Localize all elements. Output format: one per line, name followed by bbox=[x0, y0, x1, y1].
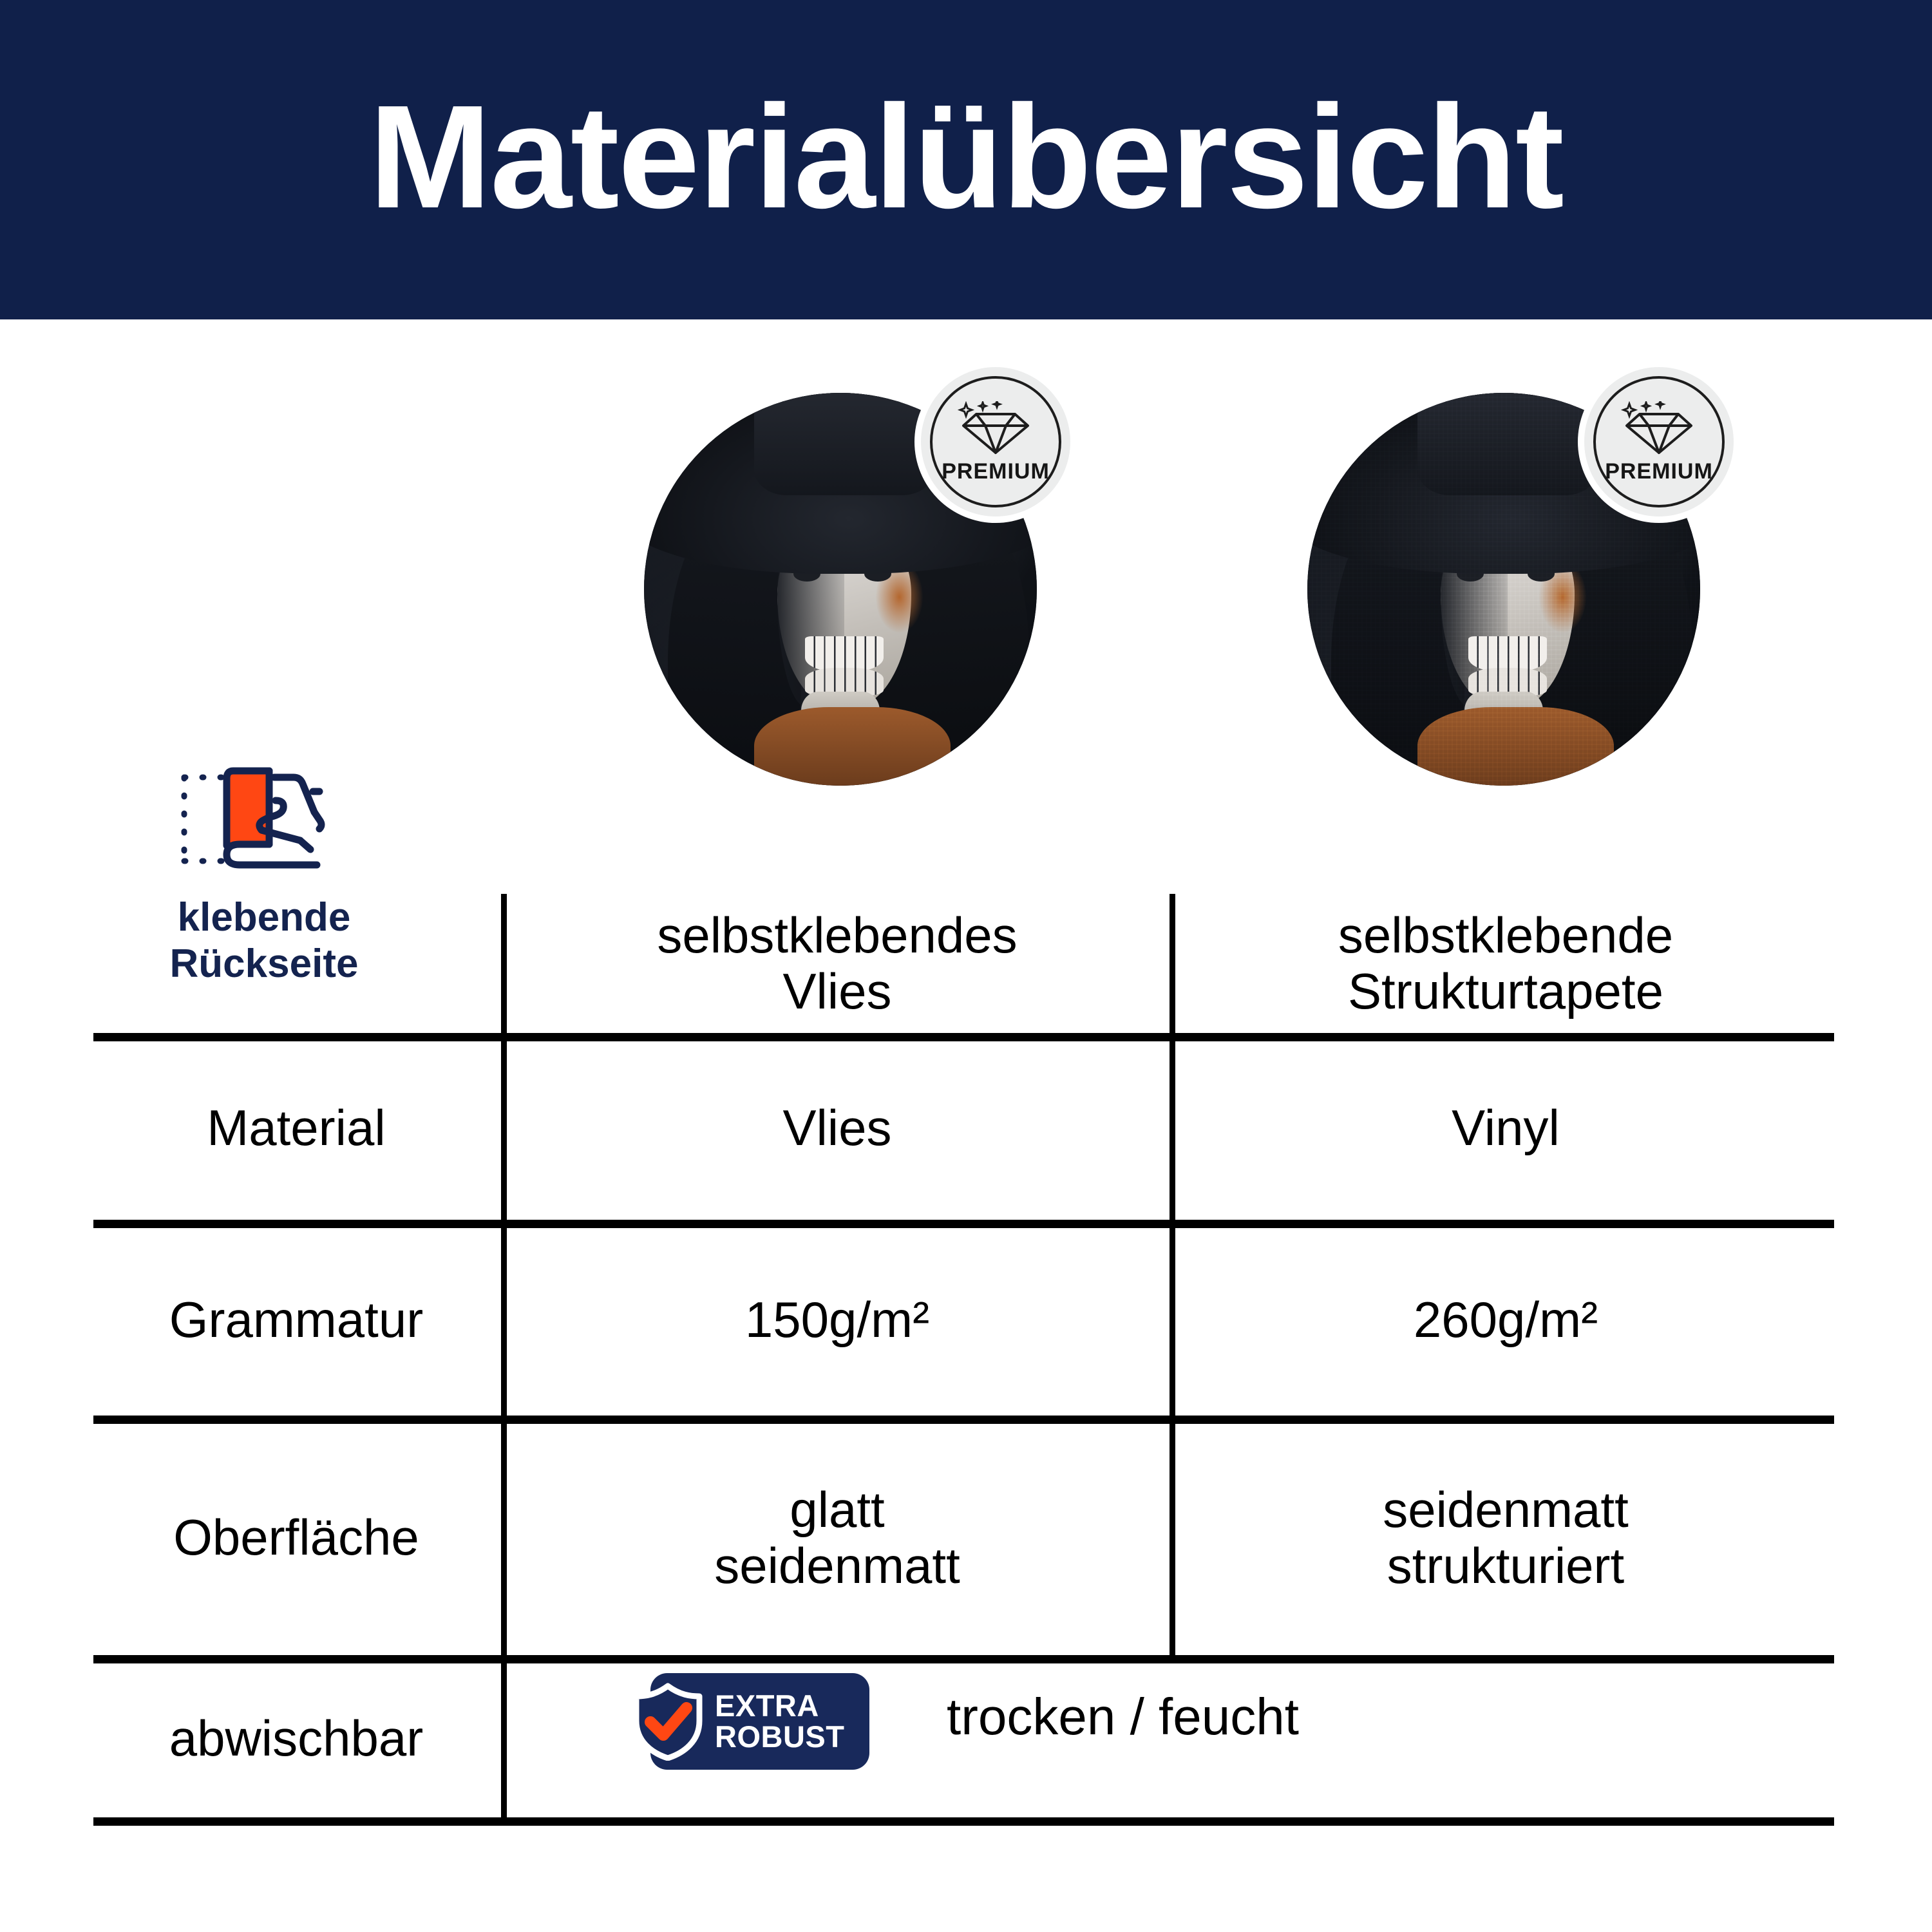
product-sample-strukturtapete[interactable]: PREMIUM bbox=[1307, 393, 1700, 786]
adhesive-backing-caption: klebende Rückseite bbox=[170, 895, 359, 987]
diamond-icon bbox=[1620, 401, 1698, 455]
diamond-icon bbox=[957, 401, 1034, 455]
table-cell-abwischbar-value: trocken / feucht bbox=[947, 1687, 1299, 1747]
table-cell-grammatur-strukturtapete: 260g/m² bbox=[1177, 1226, 1834, 1414]
table-header-col2: selbstklebende Strukturtapete bbox=[1177, 895, 1834, 1032]
table-row-label-oberflaeche: Oberfläche bbox=[93, 1422, 499, 1654]
oberflaeche-vlies-line1: glatt bbox=[714, 1482, 960, 1538]
table-rule-5 bbox=[93, 1817, 1834, 1826]
table-header-col2-line2: Strukturtapete bbox=[1338, 963, 1673, 1019]
table-header-col2-line1: selbstklebende bbox=[1338, 907, 1673, 963]
adhesive-backing-cell: klebende Rückseite bbox=[77, 763, 451, 1021]
table-header-col1-line2: Vlies bbox=[657, 963, 1017, 1019]
page-header: Materialübersicht bbox=[0, 0, 1932, 319]
adhesive-caption-line1: klebende bbox=[170, 895, 359, 941]
premium-badge-label: PREMIUM bbox=[1605, 460, 1713, 482]
oberflaeche-struktur-line1: seidenmatt bbox=[1383, 1482, 1629, 1538]
oberflaeche-struktur-line2: strukturiert bbox=[1383, 1538, 1629, 1594]
table-header-col1-line1: selbstklebendes bbox=[657, 907, 1017, 963]
premium-badge-label: PREMIUM bbox=[942, 460, 1050, 482]
shield-check-icon bbox=[629, 1682, 707, 1761]
table-row-label-material: Material bbox=[93, 1038, 499, 1218]
table-row-label-grammatur: Grammatur bbox=[93, 1226, 499, 1414]
extra-robust-line2: ROBUST bbox=[715, 1721, 844, 1752]
page-title: Materialübersicht bbox=[369, 84, 1563, 231]
table-divider-col2 bbox=[1170, 894, 1175, 1660]
table-cell-material-strukturtapete: Vinyl bbox=[1177, 1038, 1834, 1218]
table-header-col1: selbstklebendes Vlies bbox=[509, 895, 1166, 1032]
table-cell-oberflaeche-strukturtapete: seidenmatt strukturiert bbox=[1177, 1422, 1834, 1654]
table-cell-oberflaeche-vlies: glatt seidenmatt bbox=[509, 1422, 1166, 1654]
product-image-row: PREMIUM bbox=[0, 319, 1932, 764]
table-divider-col1 bbox=[501, 894, 507, 1821]
peel-adhesive-icon bbox=[167, 763, 361, 879]
material-overview-page: Materialübersicht bbox=[0, 0, 1932, 1932]
product-sample-vlies[interactable]: PREMIUM bbox=[644, 393, 1037, 786]
table-cell-material-vlies: Vlies bbox=[509, 1038, 1166, 1218]
adhesive-caption-line2: Rückseite bbox=[170, 941, 359, 987]
extra-robust-line1: EXTRA bbox=[715, 1690, 844, 1721]
premium-badge: PREMIUM bbox=[1584, 367, 1734, 516]
premium-badge: PREMIUM bbox=[921, 367, 1070, 516]
table-cell-grammatur-vlies: 150g/m² bbox=[509, 1226, 1166, 1414]
table-row-label-abwischbar: abwischbar bbox=[93, 1662, 499, 1816]
oberflaeche-vlies-line2: seidenmatt bbox=[714, 1538, 960, 1594]
extra-robust-badge: EXTRA ROBUST bbox=[650, 1673, 869, 1770]
